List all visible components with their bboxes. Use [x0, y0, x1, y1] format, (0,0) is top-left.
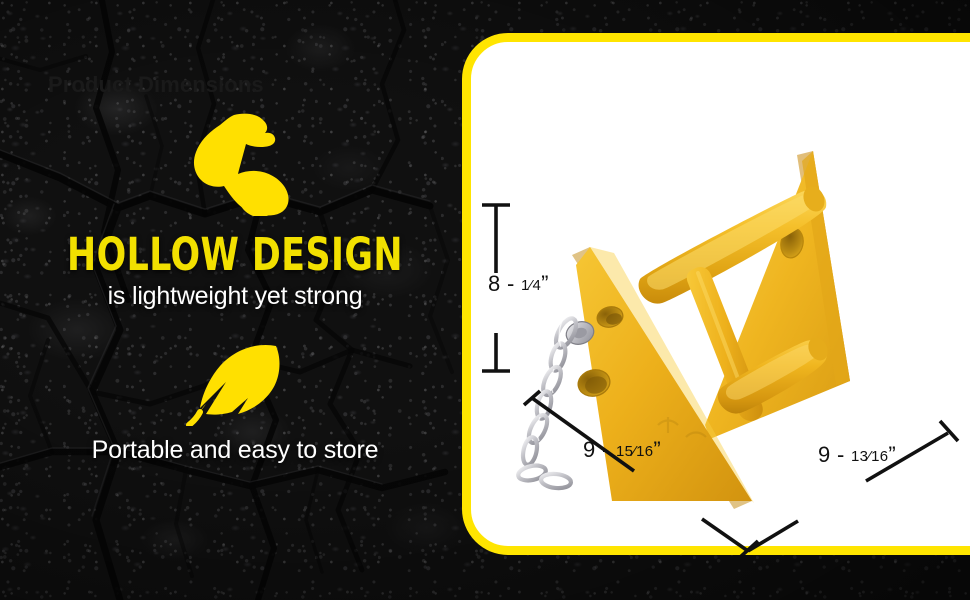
- dimension-label-height: 8 - 1⁄4”: [488, 271, 549, 297]
- feature-subhead: is lightweight yet strong: [0, 282, 470, 311]
- dimension-line-base-right: [748, 421, 958, 551]
- feature-tagline-portable: Portable and easy to store: [0, 436, 470, 465]
- marketing-banner: HOLLOW DESIGN is lightweight yet strong …: [0, 0, 970, 600]
- feather-icon: [186, 342, 290, 426]
- feature-headline: HOLLOW DESIGN: [33, 232, 437, 277]
- dimension-label-base-right: 9 - 13⁄16”: [818, 442, 896, 468]
- panel-title: Product Dimensions: [48, 72, 264, 98]
- flexed-bicep-icon: [176, 112, 294, 216]
- dimension-label-base-left: 9 - 15⁄16”: [583, 437, 661, 463]
